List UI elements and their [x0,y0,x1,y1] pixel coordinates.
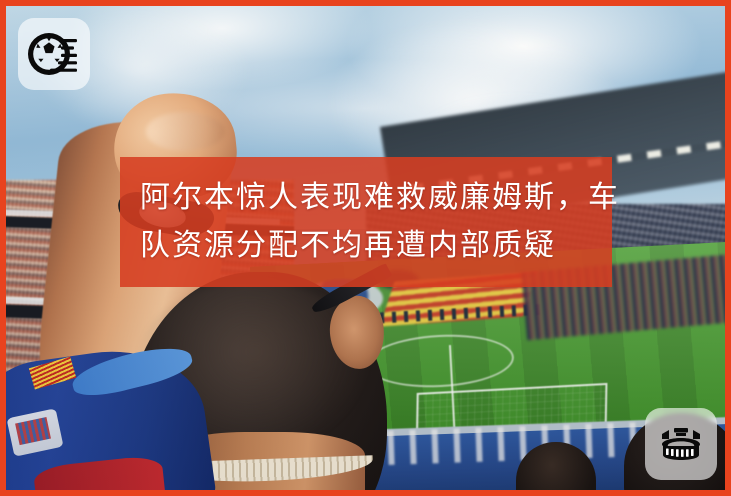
stadium-icon [656,422,706,466]
stadium-badge[interactable] [645,408,717,480]
headline-banner: 阿尔本惊人表现难救威廉姆斯，车 队资源分配不均再遭内部质疑 [120,157,612,287]
headline-line-1: 阿尔本惊人表现难救威廉姆斯，车 [140,174,594,222]
headline-line-2: 队资源分配不均再遭内部质疑 [140,222,594,270]
soccer-ball-motion-icon [28,31,80,77]
app-logo-badge[interactable] [18,18,90,90]
poster-image: 阿尔本惊人表现难救威廉姆斯，车 队资源分配不均再遭内部质疑 [0,0,731,496]
